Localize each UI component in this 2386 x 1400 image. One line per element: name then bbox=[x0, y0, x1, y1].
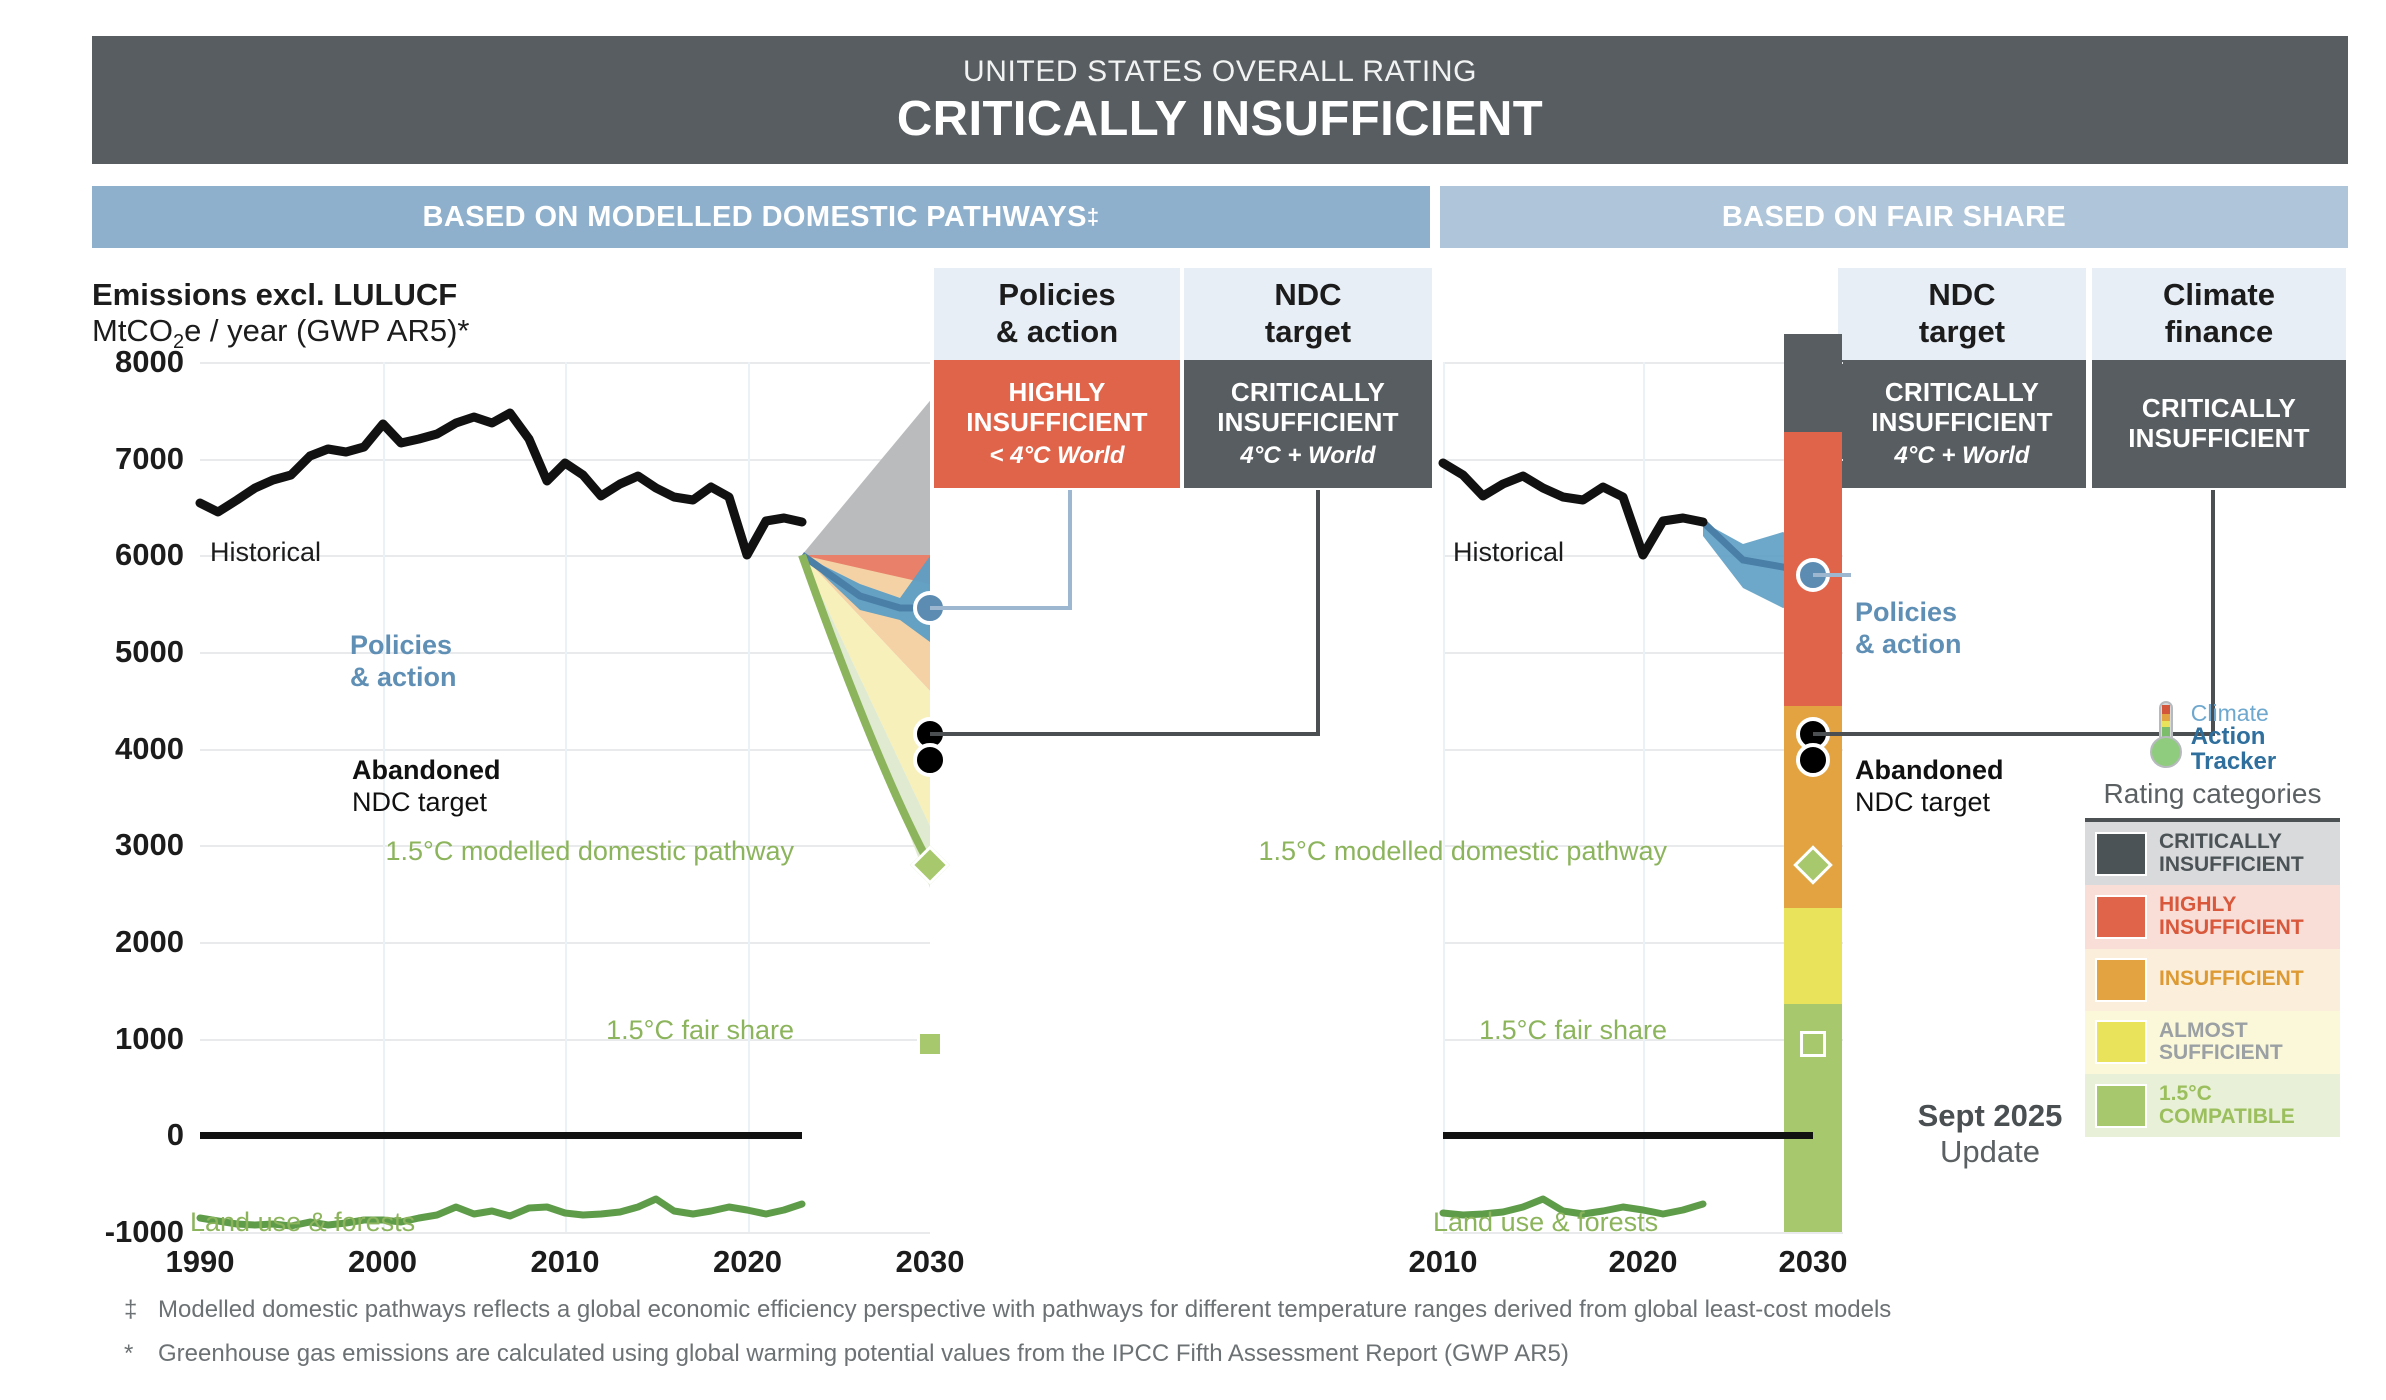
header-line-2: finance bbox=[2163, 314, 2275, 351]
annotation-abandoned-ndc-left: Abandoned NDC target bbox=[352, 754, 501, 819]
legend-label-line2: INSUFFICIENT bbox=[2159, 917, 2304, 940]
annotation-policies-action-left: Policies & action bbox=[350, 630, 457, 694]
header-line-1: NDC bbox=[1919, 277, 2005, 314]
header-line-1: NDC bbox=[1265, 277, 1351, 314]
y-tick-6000: 6000 bbox=[115, 537, 184, 573]
y-tick-2000: 2000 bbox=[115, 924, 184, 960]
legend-label-line1: 1.5°C bbox=[2159, 1083, 2295, 1106]
logo-wordmark: Climate Action Tracker bbox=[2191, 700, 2276, 774]
policies-label-line1-right: Policies bbox=[1855, 597, 1962, 629]
policies-label-line2-right: & action bbox=[1855, 629, 1962, 661]
y-tick-4000: 4000 bbox=[115, 731, 184, 767]
rating-line-1: CRITICALLY bbox=[2142, 394, 2296, 424]
leader-policies-vertical-left bbox=[1068, 490, 1072, 608]
section-header-fair-share-label: BASED ON FAIR SHARE bbox=[1722, 201, 2066, 234]
rating-column-climate-finance[interactable]: Climate finance CRITICALLY INSUFFICIENT bbox=[2092, 268, 2346, 488]
rating-line-1: CRITICALLY bbox=[1231, 378, 1385, 408]
legend-swatch-almost-sufficient bbox=[2095, 1020, 2147, 1064]
section-header-modelled-domestic-label: BASED ON MODELLED DOMESTIC PATHWAYS bbox=[422, 201, 1086, 234]
footnote-modelled-pathways: ‡Modelled domestic pathways reflects a g… bbox=[124, 1296, 1891, 1324]
header-line-2: target bbox=[1919, 314, 2005, 351]
abandoned-label-line1-right: Abandoned bbox=[1855, 754, 2004, 786]
rating-column-ndc-target-domestic[interactable]: NDC target CRITICALLY INSUFFICIENT 4°C +… bbox=[1184, 268, 1432, 488]
legend-title: Rating categories bbox=[2085, 772, 2340, 822]
band-critically-insufficient bbox=[802, 401, 930, 575]
rating-line-2: INSUFFICIENT bbox=[1217, 408, 1399, 438]
bar-segment-critically-insufficient[interactable] bbox=[1784, 334, 1842, 432]
marker-ndc-target-lower-right[interactable] bbox=[1796, 743, 1830, 777]
policies-label-line1: Policies bbox=[350, 630, 457, 662]
overall-rating-value: CRITICALLY INSUFFICIENT bbox=[897, 94, 1543, 145]
y-tick-8000: 8000 bbox=[115, 344, 184, 380]
logo-line-action: Action bbox=[2191, 725, 2276, 749]
legend-label-almost-sufficient: ALMOST SUFFICIENT bbox=[2159, 1020, 2283, 1065]
rating-badge-policies-action: HIGHLY INSUFFICIENT < 4°C World bbox=[934, 360, 1180, 488]
annotation-abandoned-ndc-right: Abandoned NDC target bbox=[1855, 754, 2004, 819]
chart-fair-share: 2010 2020 2030 Historical Land use & for… bbox=[1443, 362, 1843, 1232]
y-tick-1000: 1000 bbox=[115, 1021, 184, 1057]
annotation-historical-left: Historical bbox=[210, 537, 321, 568]
rating-subtext: 4°C + World bbox=[1894, 442, 2029, 470]
section-header-modelled-domestic: BASED ON MODELLED DOMESTIC PATHWAYS‡ bbox=[92, 186, 1430, 248]
y-axis-title-line1: Emissions excl. LULUCF bbox=[92, 278, 469, 313]
annotation-15c-fairshare-left: 1.5°C fair share bbox=[606, 1015, 794, 1046]
section-header-fair-share: BASED ON FAIR SHARE bbox=[1440, 186, 2348, 248]
legend-item-almost-sufficient[interactable]: ALMOST SUFFICIENT bbox=[2085, 1011, 2340, 1074]
chart-modelled-domestic-pathways: 8000 7000 6000 5000 4000 3000 2000 1000 … bbox=[200, 362, 930, 1232]
annotation-land-use-right: Land use & forests bbox=[1433, 1207, 1658, 1238]
rating-column-policies-action[interactable]: Policies & action HIGHLY INSUFFICIENT < … bbox=[934, 268, 1180, 488]
annotation-policies-action-right: Policies & action bbox=[1855, 597, 1962, 661]
legend-label-insufficient: INSUFFICIENT bbox=[2159, 968, 2304, 991]
rating-line-1: HIGHLY bbox=[1008, 378, 1105, 408]
y-tick-7000: 7000 bbox=[115, 441, 184, 477]
x-tick-1990: 1990 bbox=[166, 1244, 235, 1280]
footnote-gwp: *Greenhouse gas emissions are calculated… bbox=[124, 1340, 1569, 1368]
rating-line-1: CRITICALLY bbox=[1885, 378, 2039, 408]
x-tick-2030-right: 2030 bbox=[1779, 1244, 1848, 1280]
legend-label-15c-compatible: 1.5°C COMPATIBLE bbox=[2159, 1083, 2295, 1128]
leader-ndc-vertical-right bbox=[2211, 490, 2215, 734]
y-tick-0: 0 bbox=[167, 1117, 184, 1153]
zero-baseline-left bbox=[200, 1132, 802, 1139]
rating-badge-ndc-target-domestic: CRITICALLY INSUFFICIENT 4°C + World bbox=[1184, 360, 1432, 488]
footnote-text-1: Modelled domestic pathways reflects a gl… bbox=[158, 1296, 1891, 1323]
chart-series-svg-left bbox=[200, 362, 930, 1232]
x-tick-2020-right: 2020 bbox=[1609, 1244, 1678, 1280]
header-line-1: Policies bbox=[996, 277, 1118, 314]
legend-label-highly-insufficient: HIGHLY INSUFFICIENT bbox=[2159, 894, 2304, 939]
x-tick-2010-right: 2010 bbox=[1409, 1244, 1478, 1280]
y-axis-unit-suffix: e / year (GWP AR5)* bbox=[184, 313, 469, 348]
leader-ndc-horizontal-left bbox=[930, 732, 1320, 736]
policies-label-line2: & action bbox=[350, 662, 457, 694]
abandoned-label-line2-right: NDC target bbox=[1855, 786, 2004, 818]
footnote-marker-asterisk: * bbox=[124, 1340, 158, 1368]
rating-subtext: < 4°C World bbox=[989, 442, 1124, 470]
leader-policies-horizontal-right bbox=[1813, 573, 1851, 577]
line-historical bbox=[200, 413, 802, 555]
annotation-15c-pathway-left: 1.5°C modelled domestic pathway bbox=[385, 836, 794, 867]
legend-item-highly-insufficient[interactable]: HIGHLY INSUFFICIENT bbox=[2085, 885, 2340, 948]
rating-column-header: Policies & action bbox=[934, 268, 1180, 360]
climate-action-tracker-logo: Climate Action Tracker bbox=[2085, 700, 2340, 772]
rating-badge-climate-finance: CRITICALLY INSUFFICIENT bbox=[2092, 360, 2346, 488]
rating-column-ndc-target-fairshare[interactable]: NDC target CRITICALLY INSUFFICIENT 4°C +… bbox=[1838, 268, 2086, 488]
thermometer-icon bbox=[2149, 700, 2183, 770]
marker-ndc-target-lower-left[interactable] bbox=[913, 743, 947, 777]
annotation-historical-right: Historical bbox=[1453, 537, 1564, 568]
country-overline: UNITED STATES OVERALL RATING bbox=[963, 55, 1477, 88]
update-label: Update bbox=[1890, 1134, 2090, 1170]
rating-line-2: INSUFFICIENT bbox=[2128, 424, 2310, 454]
header-line-2: & action bbox=[996, 314, 1118, 351]
y-tick-5000: 5000 bbox=[115, 634, 184, 670]
annotation-15c-pathway-right: 1.5°C modelled domestic pathway bbox=[1258, 836, 1667, 867]
legend-label-line2: INSUFFICIENT bbox=[2159, 854, 2304, 877]
header-line-2: target bbox=[1265, 314, 1351, 351]
annotation-land-use-left: Land use & forests bbox=[190, 1207, 415, 1238]
leader-policies-horizontal-left bbox=[930, 606, 1072, 610]
marker-15c-fairshare-right[interactable] bbox=[1800, 1031, 1826, 1057]
leader-ndc-vertical-left bbox=[1316, 490, 1320, 734]
rating-categories-legend: Climate Action Tracker Rating categories… bbox=[2085, 700, 2340, 1137]
annotation-15c-fairshare-right: 1.5°C fair share bbox=[1479, 1015, 1667, 1046]
y-tick-3000: 3000 bbox=[115, 827, 184, 863]
overall-rating-banner: UNITED STATES OVERALL RATING CRITICALLY … bbox=[92, 36, 2348, 164]
footnote-text-2: Greenhouse gas emissions are calculated … bbox=[158, 1340, 1569, 1367]
x-tick-2000: 2000 bbox=[348, 1244, 417, 1280]
footnote-marker-dagger: ‡ bbox=[124, 1296, 158, 1324]
legend-item-critically-insufficient[interactable]: CRITICALLY INSUFFICIENT bbox=[2085, 822, 2340, 885]
chart-series-svg-right bbox=[1443, 362, 1843, 1232]
legend-swatch-15c-compatible bbox=[2095, 1084, 2147, 1128]
abandoned-label-line2: NDC target bbox=[352, 786, 501, 818]
x-tick-2030: 2030 bbox=[896, 1244, 965, 1280]
rating-line-2: INSUFFICIENT bbox=[1871, 408, 2053, 438]
legend-label-critically-insufficient: CRITICALLY INSUFFICIENT bbox=[2159, 831, 2304, 876]
x-tick-2020: 2020 bbox=[713, 1244, 782, 1280]
legend-swatch-critically-insufficient bbox=[2095, 832, 2147, 876]
legend-label-line1: INSUFFICIENT bbox=[2159, 968, 2304, 991]
logo-line-climate: Climate bbox=[2191, 702, 2276, 725]
rating-subtext: 4°C + World bbox=[1240, 442, 1375, 470]
legend-item-insufficient[interactable]: INSUFFICIENT bbox=[2085, 949, 2340, 1011]
legend-label-line2: COMPATIBLE bbox=[2159, 1106, 2295, 1129]
logo-line-tracker: Tracker bbox=[2191, 750, 2276, 774]
rating-column-header: Climate finance bbox=[2092, 268, 2346, 360]
legend-label-line1: CRITICALLY bbox=[2159, 831, 2304, 854]
update-date: Sept 2025 bbox=[1890, 1098, 2090, 1134]
update-stamp: Sept 2025 Update bbox=[1890, 1098, 2090, 1170]
rating-column-header: NDC target bbox=[1838, 268, 2086, 360]
zero-baseline-right bbox=[1443, 1132, 1813, 1139]
marker-15c-fairshare-left[interactable] bbox=[917, 1031, 943, 1057]
legend-item-15c-compatible[interactable]: 1.5°C COMPATIBLE bbox=[2085, 1074, 2340, 1137]
legend-label-line2: SUFFICIENT bbox=[2159, 1042, 2283, 1065]
fair-share-rating-bar[interactable] bbox=[1784, 334, 1842, 1232]
header-line-1: Climate bbox=[2163, 277, 2275, 314]
legend-label-line1: ALMOST bbox=[2159, 1020, 2283, 1043]
rating-line-2: INSUFFICIENT bbox=[966, 408, 1148, 438]
legend-label-line1: HIGHLY bbox=[2159, 894, 2304, 917]
bar-segment-almost-sufficient[interactable] bbox=[1784, 908, 1842, 1004]
rating-column-header: NDC target bbox=[1184, 268, 1432, 360]
abandoned-label-line1: Abandoned bbox=[352, 754, 501, 786]
rating-badge-ndc-target-fairshare: CRITICALLY INSUFFICIENT 4°C + World bbox=[1838, 360, 2086, 488]
y-axis-unit-prefix: MtCO bbox=[92, 313, 173, 348]
dagger-marker: ‡ bbox=[1087, 204, 1100, 230]
x-tick-2010: 2010 bbox=[531, 1244, 600, 1280]
legend-swatch-highly-insufficient bbox=[2095, 895, 2147, 939]
legend-swatch-insufficient bbox=[2095, 958, 2147, 1002]
